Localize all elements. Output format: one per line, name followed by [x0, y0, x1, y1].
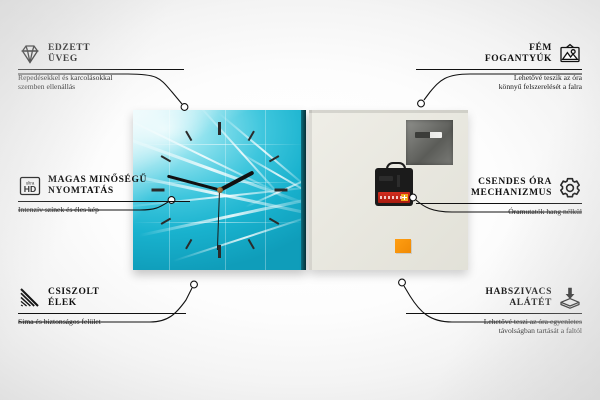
feature-header: FÉM FOGANTYÚK: [416, 42, 582, 66]
svg-text:HD: HD: [24, 184, 36, 194]
metal-hanger-plate: [406, 120, 453, 165]
mechanism-hook: [386, 162, 406, 172]
feature-title: MAGAS MINŐSÉGŰ NYOMTATÁS: [48, 175, 147, 197]
glass-edge: [301, 110, 306, 270]
back-panel-left-edge: [309, 110, 312, 270]
polished-edges-icon: [18, 286, 42, 310]
feature-desc-line1: Intenzív színek és éles kép: [18, 205, 190, 214]
clock-mechanism: [375, 168, 413, 206]
infographic-canvas: EDZETT ÜVEG Repedésekkel és karcolásokka…: [0, 0, 600, 400]
feature-title: EDZETT ÜVEG: [48, 43, 90, 65]
divider: [18, 69, 184, 70]
feature-polished-edges: CSISZOLT ÉLEK Sima és biztonságos felüle…: [18, 286, 186, 326]
picture-hanger-icon: [558, 42, 582, 66]
feature-header: EDZETT ÜVEG: [18, 42, 184, 66]
feature-header: ultra HD MAGAS MINŐSÉGŰ NYOMTATÁS: [18, 174, 190, 198]
divider: [416, 203, 582, 204]
divider: [416, 69, 582, 70]
feature-foam-pad: HABSZIVACS ALÁTÉT Lehetővé teszi az óra …: [406, 286, 582, 335]
feature-desc-line1: Lehetővé teszik az óra: [416, 73, 582, 82]
feature-metal-hangers: FÉM FOGANTYÚK Lehetővé teszik az óra kön…: [416, 42, 582, 91]
divider: [18, 313, 186, 314]
feature-header: HABSZIVACS ALÁTÉT: [406, 286, 582, 310]
mechanism-slot-2: [397, 175, 400, 187]
feature-title: CSENDES ÓRA MECHANIZMUS: [471, 177, 552, 199]
divider: [18, 201, 190, 202]
feature-header: CSISZOLT ÉLEK: [18, 286, 186, 310]
connector-endpoint-6: [399, 279, 406, 286]
mechanism-slot-1: [379, 176, 393, 181]
feature-desc-line2: könnyű felszerelését a falra: [416, 82, 582, 91]
gear-icon: [558, 176, 582, 200]
divider: [406, 313, 582, 314]
ultra-hd-icon: ultra HD: [18, 174, 42, 198]
feature-title: FÉM FOGANTYÚK: [485, 43, 552, 65]
feature-desc-line2: távolságban tartását a faltól: [406, 326, 582, 335]
feature-desc-line2: szemben ellenállás: [18, 82, 184, 91]
foam-pad: [395, 239, 411, 253]
feature-header: CSENDES ÓRA MECHANIZMUS: [416, 176, 582, 200]
feature-title: HABSZIVACS ALÁTÉT: [485, 287, 552, 309]
feature-high-quality-print: ultra HD MAGAS MINŐSÉGŰ NYOMTATÁS Intenz…: [18, 174, 190, 214]
back-panel-top-edge: [309, 110, 468, 113]
hanger-slot: [415, 132, 442, 138]
clock-center-pin: [217, 187, 223, 193]
battery-compartment: [378, 192, 410, 203]
feature-title: CSISZOLT ÉLEK: [48, 287, 99, 309]
connector-endpoint-4: [418, 100, 425, 107]
feature-desc-line1: Lehetővé teszi az óra egyenletes: [406, 317, 582, 326]
connector-endpoint-3: [191, 281, 198, 288]
feature-desc-line1: Óramutatók hang nélkül: [416, 207, 582, 216]
feature-desc-line1: Repedésekkel és karcolásokkal: [18, 73, 184, 82]
diamond-icon: [18, 42, 42, 66]
foam-pad-icon: [558, 286, 582, 310]
battery-plus-marker: [401, 194, 408, 201]
feature-tempered-glass: EDZETT ÜVEG Repedésekkel és karcolásokka…: [18, 42, 184, 91]
feature-desc-line1: Sima és biztonságos felület: [18, 317, 186, 326]
feature-silent-mechanism: CSENDES ÓRA MECHANIZMUS Óramutatók hang …: [416, 176, 582, 216]
